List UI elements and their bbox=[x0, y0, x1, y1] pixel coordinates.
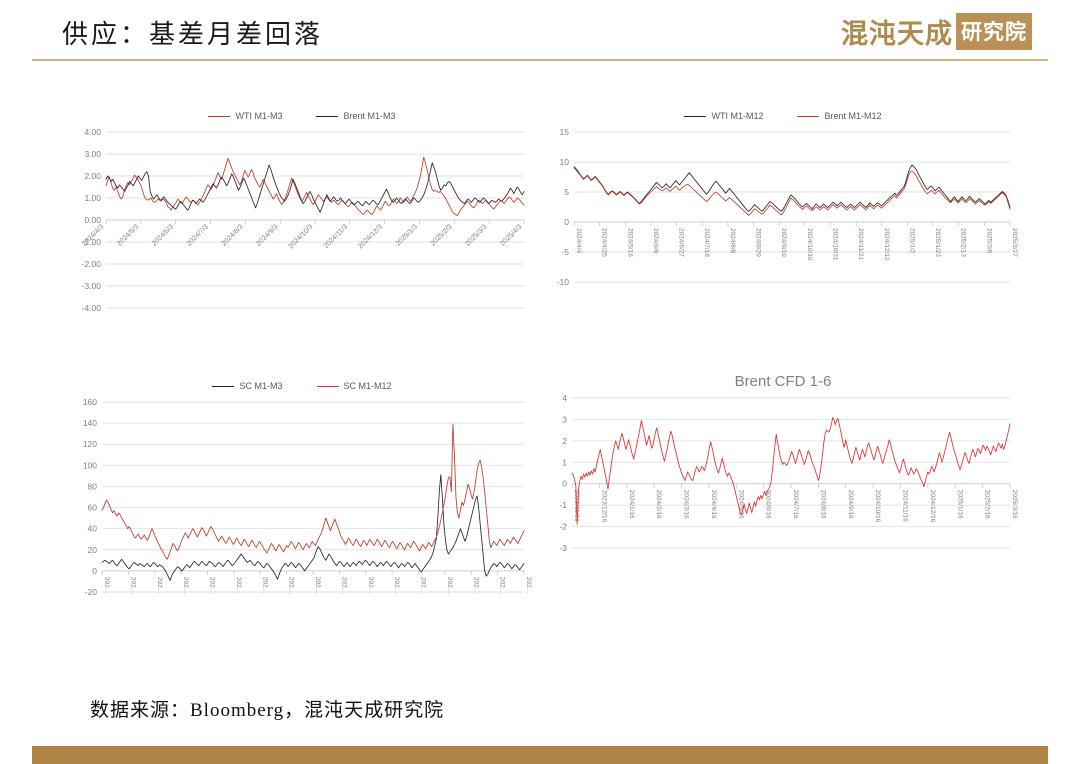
legend-swatch bbox=[212, 386, 234, 387]
legend-item: WTI M1-M3 bbox=[208, 111, 282, 121]
svg-text:202…: 202… bbox=[156, 577, 163, 594]
svg-text:60: 60 bbox=[88, 503, 98, 513]
svg-text:2024/8/29: 2024/8/29 bbox=[755, 228, 762, 257]
svg-text:4: 4 bbox=[562, 393, 567, 403]
svg-text:2024/12/12: 2024/12/12 bbox=[883, 228, 890, 261]
svg-text:2024/7/3: 2024/7/3 bbox=[186, 223, 210, 247]
plot-svg: 43210-1-2-32023/11/162023/12/162024/1/16… bbox=[548, 392, 1018, 648]
svg-text:2024/7/16: 2024/7/16 bbox=[792, 490, 799, 519]
svg-text:2024/2/16: 2024/2/16 bbox=[655, 490, 662, 519]
svg-text:-3.00: -3.00 bbox=[82, 281, 102, 291]
svg-text:-2.00: -2.00 bbox=[82, 259, 102, 269]
svg-text:2024/9/3: 2024/9/3 bbox=[255, 223, 279, 247]
legend-label: WTI M1-M3 bbox=[235, 111, 282, 121]
svg-text:2025/3/16: 2025/3/16 bbox=[1011, 490, 1018, 519]
svg-text:2024/12/3: 2024/12/3 bbox=[357, 223, 384, 250]
legend-label: WTI M1-M12 bbox=[711, 111, 763, 121]
legend-item: WTI M1-M12 bbox=[684, 111, 763, 121]
svg-text:2024/10/10: 2024/10/10 bbox=[806, 228, 813, 261]
svg-text:-20: -20 bbox=[85, 587, 98, 597]
legend-swatch bbox=[316, 116, 338, 117]
svg-text:2025/1/23: 2025/1/23 bbox=[934, 228, 941, 257]
series-line bbox=[102, 475, 524, 581]
chart-legend: WTI M1-M12Brent M1-M12 bbox=[548, 108, 1018, 124]
plot-area: 4.003.002.001.000.00-1.00-2.00-3.00-4.00… bbox=[72, 126, 532, 368]
svg-text:20: 20 bbox=[88, 545, 98, 555]
svg-text:0: 0 bbox=[92, 566, 97, 576]
source-note: 数据来源：Bloomberg，混沌天成研究院 bbox=[90, 695, 444, 722]
series-line bbox=[572, 417, 1010, 524]
svg-text:202…: 202… bbox=[420, 577, 427, 594]
svg-text:2: 2 bbox=[562, 436, 567, 446]
logo-main-text: 混沌天成 bbox=[841, 12, 953, 51]
svg-text:-2: -2 bbox=[559, 522, 567, 532]
svg-text:0: 0 bbox=[564, 217, 569, 227]
svg-text:3: 3 bbox=[562, 414, 567, 424]
svg-text:2024/6/3: 2024/6/3 bbox=[151, 223, 175, 247]
legend-label: Brent M1-M3 bbox=[343, 111, 395, 121]
header-divider bbox=[32, 59, 1048, 61]
plot-area: 151050-5-102024/4/42024/4/252024/5/16202… bbox=[548, 126, 1018, 368]
plot-svg: 4.003.002.001.000.00-1.00-2.00-3.00-4.00… bbox=[72, 126, 532, 368]
plot-svg: 160140120100806040200-20202…202…202…202…… bbox=[72, 396, 532, 648]
svg-text:2025/2/13: 2025/2/13 bbox=[960, 228, 967, 257]
chart-legend: SC M1-M3SC M1-M12 bbox=[72, 378, 532, 394]
svg-text:2024/8/16: 2024/8/16 bbox=[819, 490, 826, 519]
legend-item: SC M1-M12 bbox=[317, 381, 392, 391]
svg-text:3.00: 3.00 bbox=[84, 149, 101, 159]
legend-swatch bbox=[317, 386, 339, 387]
svg-text:2024/7/18: 2024/7/18 bbox=[703, 228, 710, 257]
company-logo: 混沌天成 研究院 bbox=[841, 12, 1032, 51]
svg-text:2024/8/8: 2024/8/8 bbox=[729, 228, 736, 254]
chart-brent-cfd-1-6: Brent CFD 1-643210-1-2-32023/11/162023/1… bbox=[548, 372, 1018, 648]
svg-text:15: 15 bbox=[560, 127, 570, 137]
svg-text:202…: 202… bbox=[314, 577, 321, 594]
svg-text:202…: 202… bbox=[209, 577, 216, 594]
svg-text:-1: -1 bbox=[559, 500, 567, 510]
svg-text:1: 1 bbox=[562, 457, 567, 467]
svg-text:100: 100 bbox=[83, 460, 97, 470]
series-line bbox=[106, 157, 524, 215]
svg-text:2024/9/19: 2024/9/19 bbox=[780, 228, 787, 257]
svg-text:140: 140 bbox=[83, 418, 97, 428]
chart-wti-brent-m1-m3: WTI M1-M3Brent M1-M34.003.002.001.000.00… bbox=[72, 108, 532, 368]
chart-wti-brent-m1-m12: WTI M1-M12Brent M1-M12151050-5-102024/4/… bbox=[548, 108, 1018, 368]
svg-text:2024/11/16: 2024/11/16 bbox=[902, 490, 909, 522]
legend-swatch bbox=[797, 116, 819, 117]
logo-seal-text: 研究院 bbox=[956, 13, 1032, 50]
svg-text:2024/1/16: 2024/1/16 bbox=[628, 490, 635, 519]
svg-text:2024/11/3: 2024/11/3 bbox=[323, 223, 350, 250]
svg-text:120: 120 bbox=[83, 439, 97, 449]
svg-text:202…: 202… bbox=[103, 577, 110, 594]
plot-area: 160140120100806040200-20202…202…202…202…… bbox=[72, 396, 532, 648]
svg-text:2025/1/16: 2025/1/16 bbox=[956, 490, 963, 519]
svg-text:160: 160 bbox=[83, 397, 97, 407]
svg-text:-4.00: -4.00 bbox=[82, 303, 102, 313]
svg-text:1.00: 1.00 bbox=[84, 193, 101, 203]
legend-swatch bbox=[684, 116, 706, 117]
svg-text:0: 0 bbox=[562, 479, 567, 489]
legend-swatch bbox=[208, 116, 230, 117]
chart-title: Brent CFD 1-6 bbox=[548, 372, 1018, 392]
svg-text:2024/11/21: 2024/11/21 bbox=[857, 228, 864, 260]
svg-text:202…: 202… bbox=[499, 577, 506, 594]
legend-item: Brent M1-M3 bbox=[316, 111, 395, 121]
svg-text:4.00: 4.00 bbox=[84, 127, 101, 137]
legend-label: SC M1-M12 bbox=[344, 381, 392, 391]
svg-text:202…: 202… bbox=[446, 577, 453, 594]
slide-root: 供应：基差月差回落 混沌天成 研究院 WTI M1-M3Brent M1-M34… bbox=[0, 0, 1080, 764]
svg-text:2025/1/3: 2025/1/3 bbox=[395, 223, 419, 247]
svg-text:202…: 202… bbox=[393, 577, 400, 594]
svg-text:2024/5/3: 2024/5/3 bbox=[116, 223, 140, 247]
svg-text:2024/3/16: 2024/3/16 bbox=[683, 490, 690, 519]
svg-text:2025/1/2: 2025/1/2 bbox=[908, 228, 915, 254]
series-line bbox=[106, 163, 524, 213]
svg-text:202…: 202… bbox=[525, 577, 532, 594]
svg-text:2024/10/3: 2024/10/3 bbox=[287, 223, 314, 250]
svg-text:2024/4/4: 2024/4/4 bbox=[575, 228, 582, 254]
svg-text:2025/3/3: 2025/3/3 bbox=[464, 223, 488, 247]
svg-text:2024/10/16: 2024/10/16 bbox=[874, 490, 881, 523]
svg-text:202…: 202… bbox=[129, 577, 136, 594]
svg-text:202…: 202… bbox=[367, 577, 374, 594]
svg-text:10: 10 bbox=[560, 157, 570, 167]
svg-text:80: 80 bbox=[88, 481, 98, 491]
svg-text:2025/4/3: 2025/4/3 bbox=[499, 223, 523, 247]
svg-text:202…: 202… bbox=[261, 577, 268, 594]
legend-label: SC M1-M3 bbox=[239, 381, 282, 391]
legend-label: Brent M1-M12 bbox=[824, 111, 881, 121]
svg-text:2024/9/16: 2024/9/16 bbox=[847, 490, 854, 519]
svg-text:2024/5/16: 2024/5/16 bbox=[626, 228, 633, 257]
svg-text:2023/12/16: 2023/12/16 bbox=[600, 490, 607, 523]
svg-text:2025/2/3: 2025/2/3 bbox=[430, 223, 454, 247]
svg-text:2024/4/16: 2024/4/16 bbox=[710, 490, 717, 519]
legend-item: Brent M1-M12 bbox=[797, 111, 881, 121]
svg-text:2024/12/16: 2024/12/16 bbox=[929, 490, 936, 523]
svg-text:2.00: 2.00 bbox=[84, 171, 101, 181]
svg-text:2024/10/31: 2024/10/31 bbox=[831, 228, 838, 261]
svg-text:2025/3/6: 2025/3/6 bbox=[985, 228, 992, 254]
footer-accent-bar bbox=[32, 746, 1048, 764]
svg-text:-10: -10 bbox=[557, 277, 570, 287]
svg-text:0.00: 0.00 bbox=[84, 215, 101, 225]
chart-legend: WTI M1-M3Brent M1-M3 bbox=[72, 108, 532, 124]
svg-text:2025/2/16: 2025/2/16 bbox=[984, 490, 991, 519]
plot-area: 43210-1-2-32023/11/162023/12/162024/1/16… bbox=[548, 392, 1018, 648]
svg-text:202…: 202… bbox=[472, 577, 479, 594]
svg-text:2024/6/27: 2024/6/27 bbox=[678, 228, 685, 257]
svg-text:2024/4/25: 2024/4/25 bbox=[601, 228, 608, 257]
svg-text:40: 40 bbox=[88, 524, 98, 534]
chart-sc-spreads: SC M1-M3SC M1-M12160140120100806040200-2… bbox=[72, 378, 532, 648]
plot-svg: 151050-5-102024/4/42024/4/252024/5/16202… bbox=[548, 126, 1018, 368]
svg-text:2024/6/6: 2024/6/6 bbox=[652, 228, 659, 254]
svg-text:-3: -3 bbox=[559, 543, 567, 553]
svg-text:202…: 202… bbox=[235, 577, 242, 594]
svg-text:-5: -5 bbox=[561, 247, 569, 257]
page-title: 供应：基差月差回落 bbox=[62, 14, 323, 51]
svg-text:5: 5 bbox=[564, 187, 569, 197]
legend-item: SC M1-M3 bbox=[212, 381, 282, 391]
svg-text:2024/8/3: 2024/8/3 bbox=[221, 223, 245, 247]
svg-text:2025/3/27: 2025/3/27 bbox=[1011, 228, 1018, 257]
svg-text:202…: 202… bbox=[182, 577, 189, 594]
svg-text:202…: 202… bbox=[288, 577, 295, 594]
svg-text:202…: 202… bbox=[340, 577, 347, 594]
